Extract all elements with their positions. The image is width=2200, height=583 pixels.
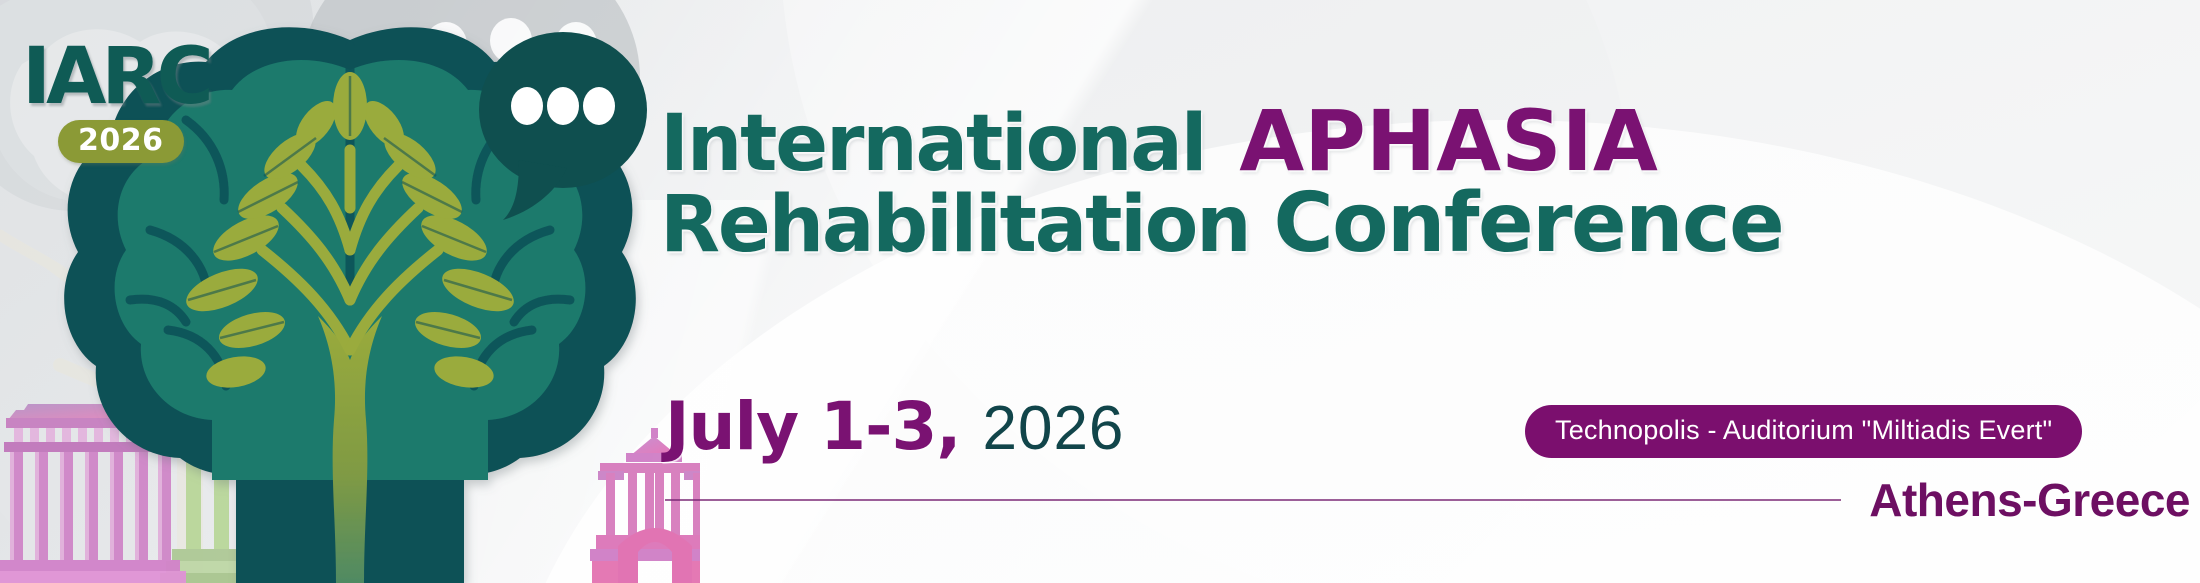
conference-banner: IARC 2026 InternationalAPHASIA Rehabilit… bbox=[0, 0, 2200, 583]
location-city-country: Athens-Greece bbox=[1869, 473, 2200, 527]
date-year: 2026 bbox=[982, 393, 1124, 464]
banner-text-block: InternationalAPHASIA RehabilitationConfe… bbox=[655, 0, 2200, 583]
location-divider-rule bbox=[665, 499, 1841, 501]
title-conference: Conference bbox=[1273, 176, 1783, 271]
venue-badge: Technopolis - Auditorium "Miltiadis Ever… bbox=[1525, 405, 2082, 458]
speech-bubble-icon bbox=[475, 30, 650, 220]
location-line: Athens-Greece bbox=[655, 473, 2200, 527]
iarc-logo[interactable]: IARC 2026 bbox=[22, 38, 262, 168]
logo-acronym: IARC bbox=[22, 38, 262, 116]
title-line-2: RehabilitationConference bbox=[660, 176, 1783, 271]
date-month-days: July 1-3, bbox=[665, 388, 960, 465]
logo-year-badge: 2026 bbox=[58, 120, 184, 163]
conference-date: July 1-3, 2026 bbox=[665, 388, 1124, 465]
title-rehabilitation: Rehabilitation bbox=[660, 180, 1249, 270]
